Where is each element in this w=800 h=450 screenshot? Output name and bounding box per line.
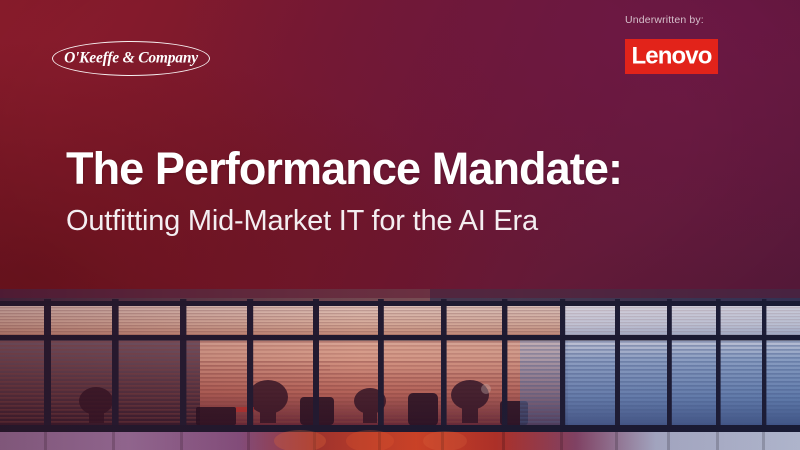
page-title: The Performance Mandate:	[66, 143, 766, 195]
headline-block: The Performance Mandate: Outfitting Mid-…	[66, 143, 766, 239]
lenovo-logo: Lenovo	[625, 39, 718, 74]
office-building-photo	[0, 289, 800, 450]
underwritten-by-label: Underwritten by:	[625, 13, 785, 27]
title-slide: O'Keeffe & Company Underwritten by: Leno…	[0, 0, 800, 450]
lenovo-wordmark: Lenovo	[632, 44, 712, 68]
page-subtitle: Outfitting Mid-Market IT for the AI Era	[66, 203, 766, 239]
logo-wordmark: O'Keeffe & Company	[52, 49, 210, 67]
okeeffe-company-logo: O'Keeffe & Company	[52, 41, 210, 76]
building-facade-illustration	[0, 289, 800, 450]
underwriter-block: Underwritten by: Lenovo	[625, 13, 785, 74]
